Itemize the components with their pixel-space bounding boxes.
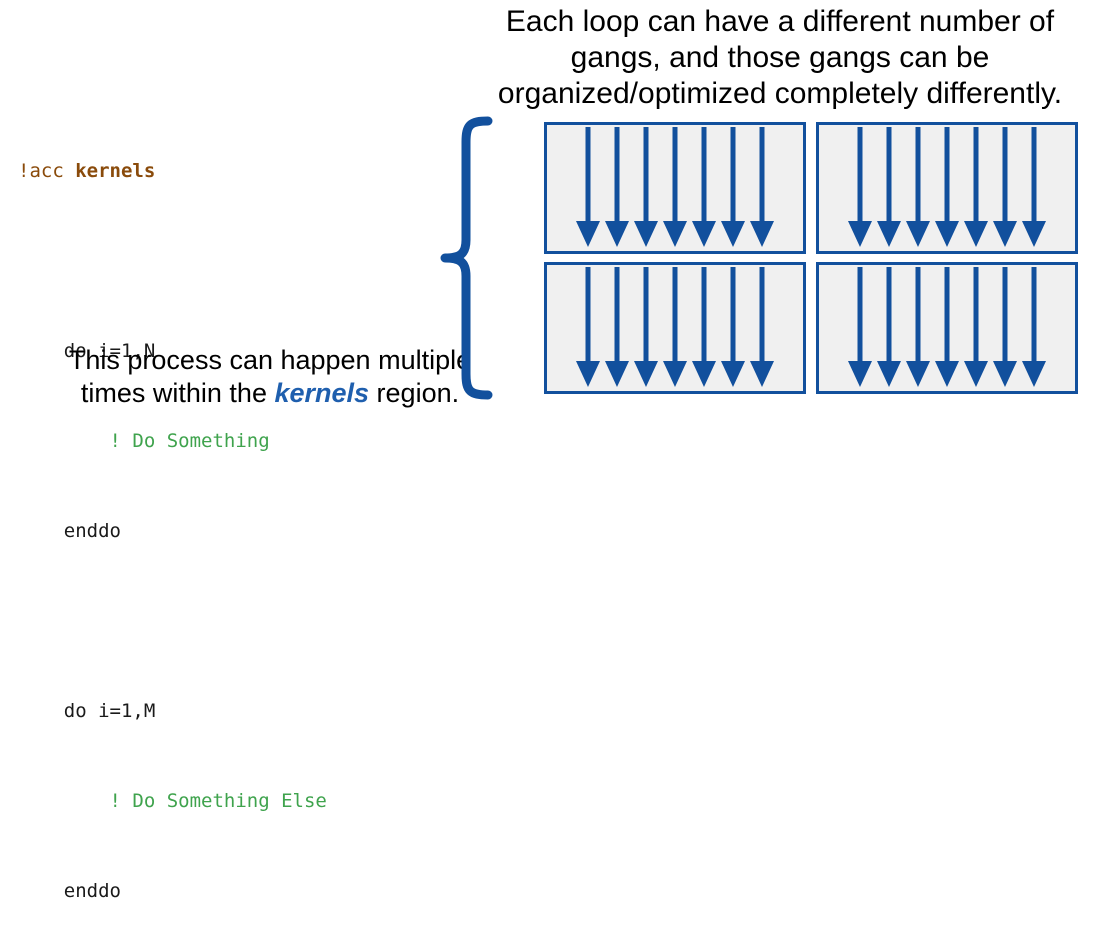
gang-arrow <box>848 127 872 247</box>
gang-arrow <box>634 127 658 247</box>
gang-arrow <box>721 267 745 387</box>
code-line-do-m: do i=1,M <box>18 696 327 726</box>
gang-arrow <box>964 127 988 247</box>
code-line-comment-2: ! Do Something Else <box>18 786 327 816</box>
top-caption: Each loop can have a different number of… <box>462 4 1098 112</box>
gang-arrow <box>906 267 930 387</box>
gang-box-top-right <box>816 122 1078 254</box>
gang-arrow <box>663 127 687 247</box>
gang-arrow <box>935 127 959 247</box>
left-caption: This process can happen multiple times w… <box>60 344 480 410</box>
gang-arrow <box>576 267 600 387</box>
directive-keyword: kernels <box>75 160 155 182</box>
code-block: !acc kernels do i=1,N ! Do Something end… <box>18 96 327 930</box>
gang-arrow <box>906 127 930 247</box>
gang-box-top-left <box>544 122 806 254</box>
gang-arrow <box>1022 267 1046 387</box>
gang-arrow <box>993 127 1017 247</box>
gang-grid <box>544 122 1078 394</box>
gang-arrow <box>1022 127 1046 247</box>
arrow-group <box>848 127 1046 247</box>
code-line-blank-2 <box>18 606 327 636</box>
gang-arrow <box>692 127 716 247</box>
gang-arrows-bottom-left <box>547 265 803 391</box>
directive-prefix: !acc <box>18 160 75 182</box>
gang-arrow <box>605 127 629 247</box>
code-line-enddo-2: enddo <box>18 876 327 906</box>
arrow-group <box>848 267 1046 387</box>
gang-box-bottom-left <box>544 262 806 394</box>
gang-arrow <box>663 267 687 387</box>
gang-arrow <box>692 267 716 387</box>
arrow-group <box>576 127 774 247</box>
gang-arrows-bottom-right <box>819 265 1075 391</box>
left-caption-kernels-highlight: kernels <box>274 378 369 408</box>
slide-canvas: !acc kernels do i=1,N ! Do Something end… <box>0 0 1100 465</box>
gang-arrow <box>576 127 600 247</box>
code-line-directive: !acc kernels <box>18 156 327 186</box>
gang-arrow <box>750 267 774 387</box>
code-line-blank-1 <box>18 246 327 276</box>
gang-arrow <box>634 267 658 387</box>
brace-path <box>445 121 488 395</box>
gang-box-bottom-right <box>816 262 1078 394</box>
gang-arrows-top-right <box>819 125 1075 251</box>
gang-arrow <box>848 267 872 387</box>
gang-arrow <box>877 127 901 247</box>
gang-arrow <box>721 127 745 247</box>
gang-arrows-top-left <box>547 125 803 251</box>
gang-arrow <box>993 267 1017 387</box>
arrow-group <box>576 267 774 387</box>
gang-arrow <box>935 267 959 387</box>
gang-arrow <box>964 267 988 387</box>
code-line-comment-1: ! Do Something <box>18 426 327 456</box>
gang-arrow <box>750 127 774 247</box>
gang-arrow <box>605 267 629 387</box>
left-curly-brace <box>440 116 502 400</box>
code-line-enddo-1: enddo <box>18 516 327 546</box>
gang-arrow <box>877 267 901 387</box>
